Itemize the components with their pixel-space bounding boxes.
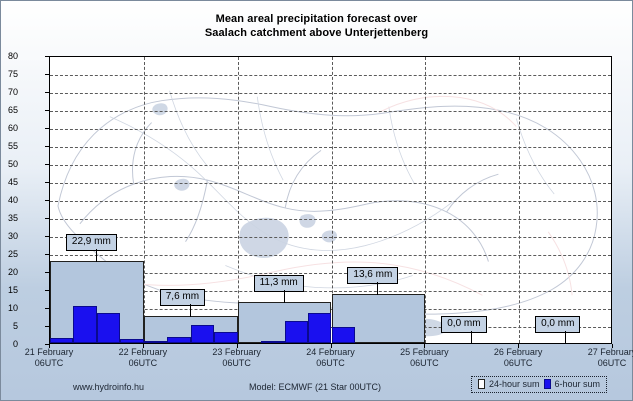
x-axis-label-time: 06UTC bbox=[6, 358, 92, 369]
bar-6-hour bbox=[120, 339, 143, 343]
x-axis-tick bbox=[237, 344, 238, 348]
chart-title-line1: Mean areal precipitation forecast over bbox=[1, 12, 632, 26]
x-axis-label-date: 26 February bbox=[475, 347, 561, 358]
y-axis-label: 80 bbox=[0, 52, 18, 61]
x-axis-label-time: 06UTC bbox=[288, 358, 374, 369]
y-axis-label: 40 bbox=[0, 196, 18, 205]
callout-leader-line bbox=[565, 331, 566, 344]
grid-line-horizontal bbox=[50, 201, 611, 202]
x-axis-label: 26 February06UTC bbox=[475, 347, 561, 369]
chart-title-line2: Saalach catchment above Unterjettenberg bbox=[1, 26, 632, 40]
grid-line-horizontal bbox=[50, 111, 611, 112]
x-axis-tick bbox=[518, 344, 519, 348]
legend-label-6-hour: 6-hour sum bbox=[555, 379, 601, 389]
x-axis-label: 22 February06UTC bbox=[100, 347, 186, 369]
y-axis-label: 20 bbox=[0, 268, 18, 277]
y-axis-label: 60 bbox=[0, 124, 18, 133]
bar-6-hour bbox=[191, 325, 214, 343]
bar-6-hour bbox=[308, 313, 331, 343]
value-callout: 7,6 mm bbox=[160, 289, 205, 306]
value-callout: 22,9 mm bbox=[66, 234, 117, 251]
grid-line-horizontal bbox=[50, 75, 611, 76]
x-axis-label: 23 February06UTC bbox=[194, 347, 280, 369]
y-axis-label: 30 bbox=[0, 232, 18, 241]
grid-line-horizontal bbox=[50, 237, 611, 238]
x-axis-label-date: 23 February bbox=[194, 347, 280, 358]
chart-window: Mean areal precipitation forecast over S… bbox=[0, 0, 633, 401]
callout-leader-line bbox=[190, 304, 191, 317]
x-axis-label: 27 February06UTC bbox=[569, 347, 633, 369]
bar-6-hour bbox=[285, 321, 308, 343]
x-axis-label-time: 06UTC bbox=[381, 358, 467, 369]
value-callout: 11,3 mm bbox=[254, 275, 304, 292]
x-axis-tick bbox=[143, 344, 144, 348]
bar-6-hour bbox=[214, 332, 237, 343]
x-axis-label: 24 February06UTC bbox=[288, 347, 374, 369]
y-axis-label: 45 bbox=[0, 178, 18, 187]
x-axis-label-time: 06UTC bbox=[100, 358, 186, 369]
callout-leader-line bbox=[96, 249, 97, 262]
x-axis-tick bbox=[612, 344, 613, 348]
y-axis-label: 50 bbox=[0, 160, 18, 169]
y-axis-label: 70 bbox=[0, 88, 18, 97]
y-axis-label: 35 bbox=[0, 214, 18, 223]
plot-area bbox=[49, 56, 612, 344]
value-callout: 13,6 mm bbox=[347, 267, 398, 284]
callout-leader-line bbox=[471, 331, 472, 344]
x-axis-tick bbox=[424, 344, 425, 348]
legend-label-24-hour: 24-hour sum bbox=[489, 379, 540, 389]
y-axis-label: 15 bbox=[0, 286, 18, 295]
x-axis-label-time: 06UTC bbox=[475, 358, 561, 369]
value-callout: 0,0 mm bbox=[535, 316, 580, 333]
bar-6-hour bbox=[50, 338, 73, 343]
x-axis-label-date: 24 February bbox=[288, 347, 374, 358]
x-axis-label-date: 22 February bbox=[100, 347, 186, 358]
bar-6-hour bbox=[332, 327, 355, 343]
x-axis-label-date: 25 February bbox=[381, 347, 467, 358]
grid-line-vertical bbox=[144, 57, 145, 343]
y-axis-label: 75 bbox=[0, 70, 18, 79]
grid-line-horizontal bbox=[50, 219, 611, 220]
x-axis-label-time: 06UTC bbox=[569, 358, 633, 369]
y-axis-label: 25 bbox=[0, 250, 18, 259]
bar-6-hour bbox=[97, 313, 120, 343]
chart-title: Mean areal precipitation forecast over S… bbox=[1, 12, 632, 40]
x-axis-label: 25 February06UTC bbox=[381, 347, 467, 369]
y-axis-label: 5 bbox=[0, 322, 18, 331]
grid-line-horizontal bbox=[50, 129, 611, 130]
grid-line-vertical bbox=[238, 57, 239, 343]
grid-line-horizontal bbox=[50, 183, 611, 184]
legend-swatch-24-hour bbox=[478, 379, 485, 389]
x-axis-label-date: 21 February bbox=[6, 347, 92, 358]
x-axis-tick bbox=[49, 344, 50, 348]
grid-line-horizontal bbox=[50, 255, 611, 256]
grid-line-horizontal bbox=[50, 147, 611, 148]
x-axis-label-date: 27 February bbox=[569, 347, 633, 358]
bar-6-hour bbox=[144, 341, 167, 343]
x-axis-label-time: 06UTC bbox=[194, 358, 280, 369]
legend-swatch-6-hour bbox=[544, 379, 551, 389]
bar-6-hour bbox=[73, 306, 96, 343]
y-axis-label: 55 bbox=[0, 142, 18, 151]
legend: 24-hour sum 6-hour sum bbox=[471, 376, 607, 393]
footer-model: Model: ECMWF (21 Star 00UTC) bbox=[249, 382, 381, 392]
grid-line-horizontal bbox=[50, 93, 611, 94]
bar-6-hour bbox=[261, 341, 284, 343]
x-axis-label: 21 February06UTC bbox=[6, 347, 92, 369]
callout-leader-line bbox=[377, 282, 378, 295]
callout-leader-line bbox=[284, 290, 285, 303]
y-axis-label: 10 bbox=[0, 304, 18, 313]
x-axis-tick bbox=[331, 344, 332, 348]
grid-line-horizontal bbox=[50, 165, 611, 166]
bar-6-hour bbox=[167, 337, 190, 343]
grid-line-vertical bbox=[519, 57, 520, 343]
footer-website[interactable]: www.hydroinfo.hu bbox=[73, 382, 144, 392]
y-axis-label: 65 bbox=[0, 106, 18, 115]
grid-line-vertical bbox=[425, 57, 426, 343]
value-callout: 0,0 mm bbox=[441, 316, 486, 333]
